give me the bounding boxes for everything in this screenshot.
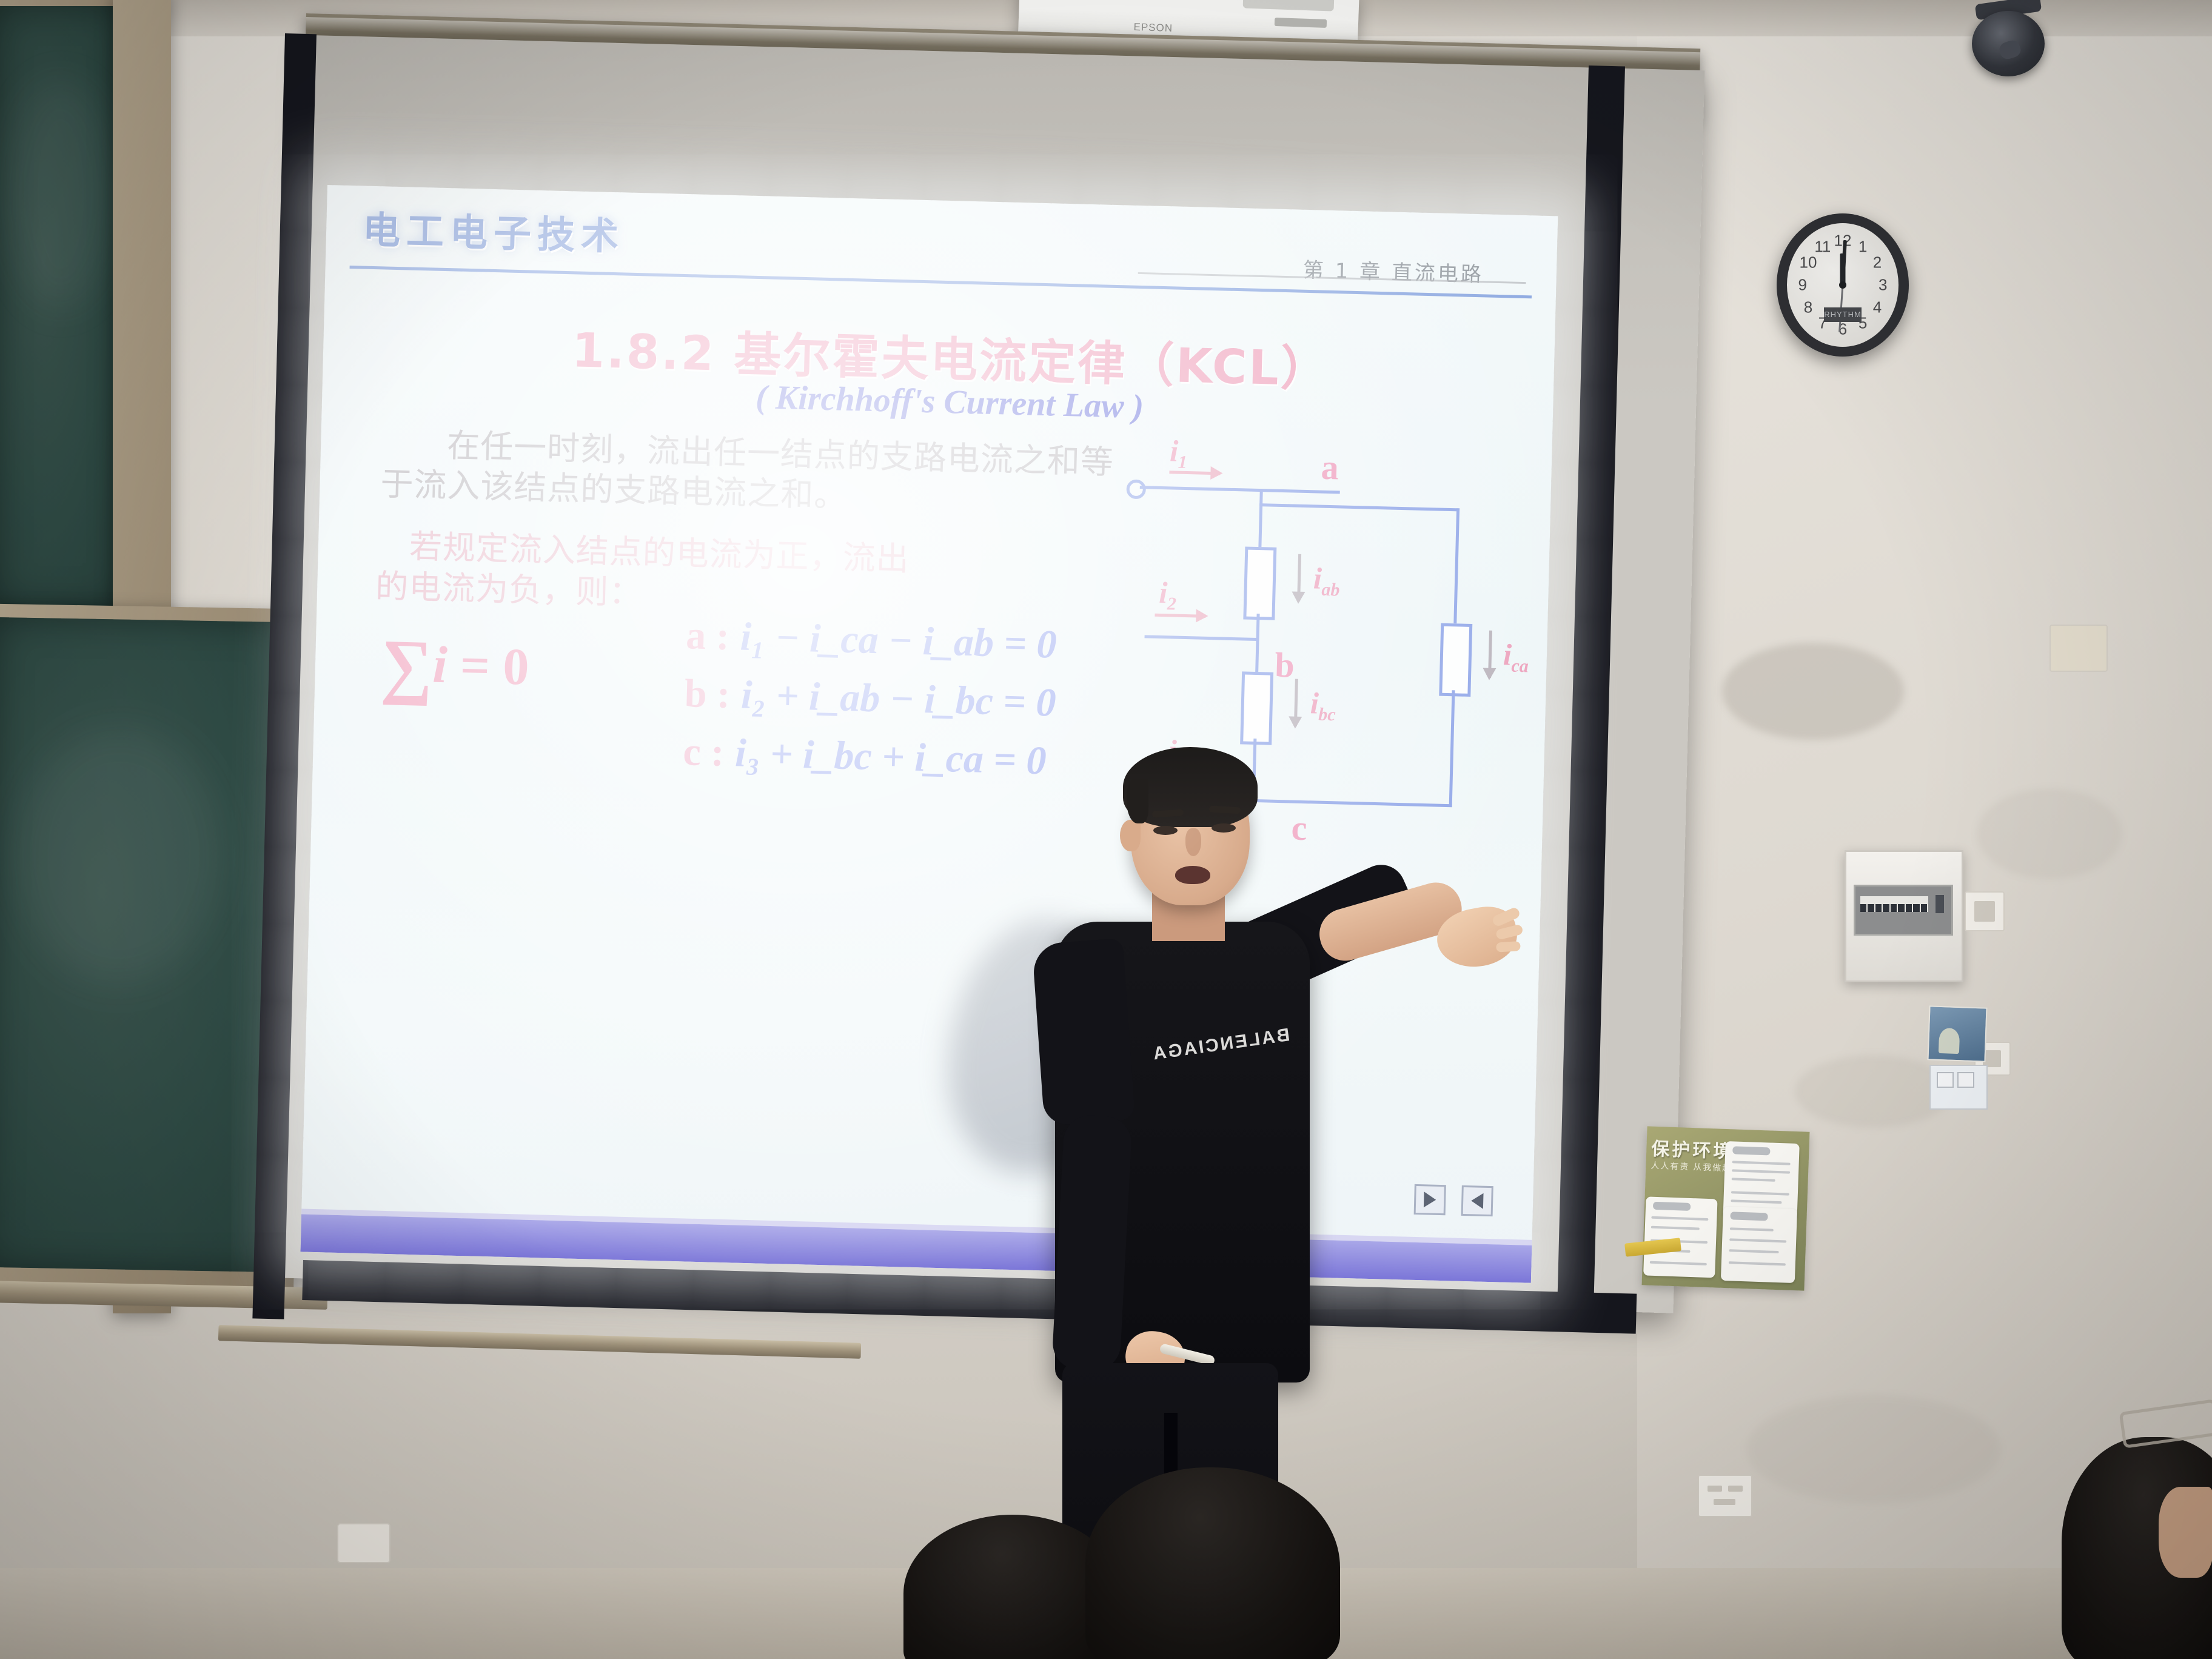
sigma-symbol: ∑ [380, 625, 434, 706]
outlet-slot [1714, 1499, 1735, 1505]
instructor-mouth [1175, 866, 1210, 884]
circuit-node-b: b [1275, 645, 1295, 686]
circuit-wire-i2 [1145, 635, 1258, 641]
student-face [2159, 1487, 2212, 1578]
poster-card-line [1730, 1227, 1774, 1232]
equation-node-label: b : [684, 671, 731, 717]
blackboard-panel-1 [0, 6, 126, 606]
electrical-distribution-panel[interactable] [1845, 850, 1963, 982]
circuit-wire-top [1259, 503, 1460, 511]
instructor-eye [1153, 826, 1178, 835]
slide-paragraph-1: 在任一时刻，流出任一结点的支路电流之和等于流入该结点的支路电流之和。 [380, 424, 1146, 523]
wall-scuff [1746, 1395, 2001, 1504]
resistor-ca [1439, 623, 1472, 697]
wall-scuff [1977, 788, 2122, 879]
circuit-breaker[interactable] [1913, 904, 1919, 912]
current-label-i1: i1 [1169, 433, 1188, 473]
equation-node-label: c : [683, 729, 725, 775]
circuit-breaker[interactable] [1891, 904, 1897, 912]
clock-numeral: 1 [1858, 237, 1867, 256]
circuit-wire-ab-lower [1255, 614, 1259, 672]
resistor-bc [1240, 671, 1273, 745]
poster-card-line [1731, 1199, 1781, 1204]
slide-previous-button[interactable] [1461, 1185, 1493, 1216]
wall-scuff [1795, 1055, 1952, 1128]
circuit-node-c: c [1291, 808, 1307, 849]
clock-numeral: 10 [1799, 253, 1817, 272]
current-arrow-iab [1297, 554, 1301, 602]
outlet-slot [1708, 1486, 1722, 1492]
clock-numeral: 3 [1879, 276, 1887, 295]
circuit-wire-bottom [1252, 799, 1452, 807]
equation-node-label: a : [685, 613, 729, 659]
circuit-breaker[interactable] [1860, 904, 1866, 912]
clock-numeral: 8 [1804, 298, 1812, 317]
poster-card-line [1729, 1261, 1786, 1265]
circuit-breaker[interactable] [1868, 904, 1874, 912]
poster-card-line [1732, 1161, 1791, 1165]
equation-expression: i₁ − i_ca − i_ab = 0 [740, 614, 1057, 666]
current-arrow-ibc [1294, 679, 1298, 726]
poster-card-line [1731, 1191, 1789, 1195]
sum-rhs: = 0 [460, 636, 530, 696]
slide-header-chapter: 第 1 章 直流电路 [1302, 253, 1484, 288]
breaker-row[interactable] [1860, 896, 1928, 912]
current-label-iab: iab [1313, 560, 1341, 600]
current-label-i2: i2 [1159, 575, 1178, 615]
instructor-finger [1496, 941, 1521, 953]
poster-card-line [1651, 1226, 1700, 1230]
clock-numeral: 11 [1814, 237, 1831, 256]
clock-numeral: 4 [1873, 298, 1882, 317]
instructor-hair [1123, 747, 1258, 827]
poster-card-line [1732, 1169, 1790, 1173]
equation-expression: i₂ + i_ab − i_bc = 0 [740, 673, 1056, 725]
wall-panel-beige [2049, 625, 2108, 672]
circuit-wire-i1 [1140, 486, 1340, 494]
clock-center-pin [1839, 281, 1846, 289]
clock-face: 12 1 2 3 4 5 6 7 8 9 10 11 RHYTHM [1787, 223, 1899, 347]
classroom-scene: EPSON 电工电子技术 第 1 章 直流电路 1.8.2 基尔霍夫电流定律 [0, 0, 2212, 1659]
poster-card-line [1651, 1216, 1708, 1221]
poster-card-line [1729, 1238, 1786, 1242]
play-forward-icon [1424, 1191, 1436, 1207]
clock-numeral: 2 [1873, 253, 1882, 272]
sum-equation: ∑i = 0 [380, 623, 530, 711]
circuit-wire-right-lower [1449, 690, 1455, 805]
poster-card-caption [1732, 1146, 1770, 1155]
resistor-ab [1243, 546, 1276, 620]
current-label-ica: ica [1503, 637, 1529, 677]
circuit-breaker[interactable] [1883, 904, 1889, 912]
projector-label: EPSON [1133, 21, 1173, 35]
poster-title: 保护环境 [1651, 1134, 1734, 1164]
wall-photo-card [1927, 1005, 1987, 1062]
floor-power-outlet[interactable] [337, 1523, 390, 1563]
poster-subtitle: 人人有责 从我做起 [1651, 1159, 1732, 1175]
wall-clock: 12 1 2 3 4 5 6 7 8 9 10 11 RHYTHM [1777, 213, 1909, 357]
slide-next-button[interactable] [1414, 1184, 1446, 1215]
sum-variable: i [432, 635, 447, 694]
slide-header-title: 电工电子技术 [362, 199, 625, 261]
poster-card [1643, 1196, 1717, 1278]
environment-poster: 保护环境 人人有责 从我做起 [1642, 1126, 1810, 1290]
main-switch[interactable] [1935, 895, 1944, 913]
current-arrow-ica [1488, 631, 1492, 678]
circuit-breaker[interactable] [1921, 904, 1927, 912]
instructor-left-shoulder [1032, 938, 1136, 1126]
power-outlet-plate[interactable] [1698, 1475, 1752, 1517]
circuit-breaker[interactable] [1875, 904, 1882, 912]
chalk-haze [6, 79, 115, 309]
poster-card-line [1732, 1178, 1775, 1182]
poster-card-line [1650, 1261, 1707, 1265]
instructor-nose [1185, 828, 1201, 856]
projected-slide: 电工电子技术 第 1 章 直流电路 1.8.2 基尔霍夫电流定律（KCL） ( … [300, 185, 1558, 1283]
circuit-wire-right-upper [1453, 508, 1460, 623]
info-card-square [1937, 1072, 1954, 1088]
blackboard-panel-2 [0, 617, 288, 1272]
info-card-square [1957, 1072, 1974, 1088]
camera-dome-icon [1972, 11, 2045, 76]
switch-rocker[interactable] [1974, 901, 1995, 922]
circuit-wire-a-drop [1258, 489, 1262, 547]
poster-card-caption [1730, 1212, 1768, 1221]
circuit-node-a: a [1321, 447, 1339, 488]
slide-paragraph-2: 若规定流入结点的电流为正，流出的电流为负，则： [375, 526, 910, 620]
play-back-icon [1471, 1193, 1484, 1208]
current-label-ibc: ibc [1310, 685, 1336, 725]
poster-card-line [1729, 1249, 1779, 1253]
instructor-eye [1212, 823, 1236, 833]
student-head [1085, 1467, 1340, 1659]
outlet-slot [1728, 1486, 1743, 1492]
light-switch-plate[interactable] [1965, 891, 2005, 931]
wall-scuff [1722, 643, 1904, 740]
circuit-terminal-1 [1126, 480, 1146, 500]
circuit-breaker[interactable] [1906, 904, 1912, 912]
circuit-breaker[interactable] [1898, 904, 1904, 912]
chalk-haze [14, 727, 224, 985]
camera-lens-icon [1997, 38, 2022, 61]
equation-expression: i₃ + i_bc + i_ca = 0 [734, 731, 1047, 783]
clock-numeral: 9 [1798, 276, 1807, 295]
instructor-lowered-arm [1051, 1114, 1133, 1372]
poster-card-caption [1653, 1202, 1691, 1211]
poster-card [1721, 1207, 1797, 1283]
panel-window [1854, 885, 1953, 936]
dome-security-camera [1972, 11, 2045, 76]
wall-info-card [1929, 1065, 1988, 1110]
projector-vent [1275, 18, 1327, 28]
instructor-ear [1120, 820, 1141, 851]
photo-subject [1939, 1028, 1960, 1054]
slide-navigation[interactable] [1414, 1184, 1493, 1216]
clock-brand-label: RHYTHM [1824, 307, 1862, 322]
